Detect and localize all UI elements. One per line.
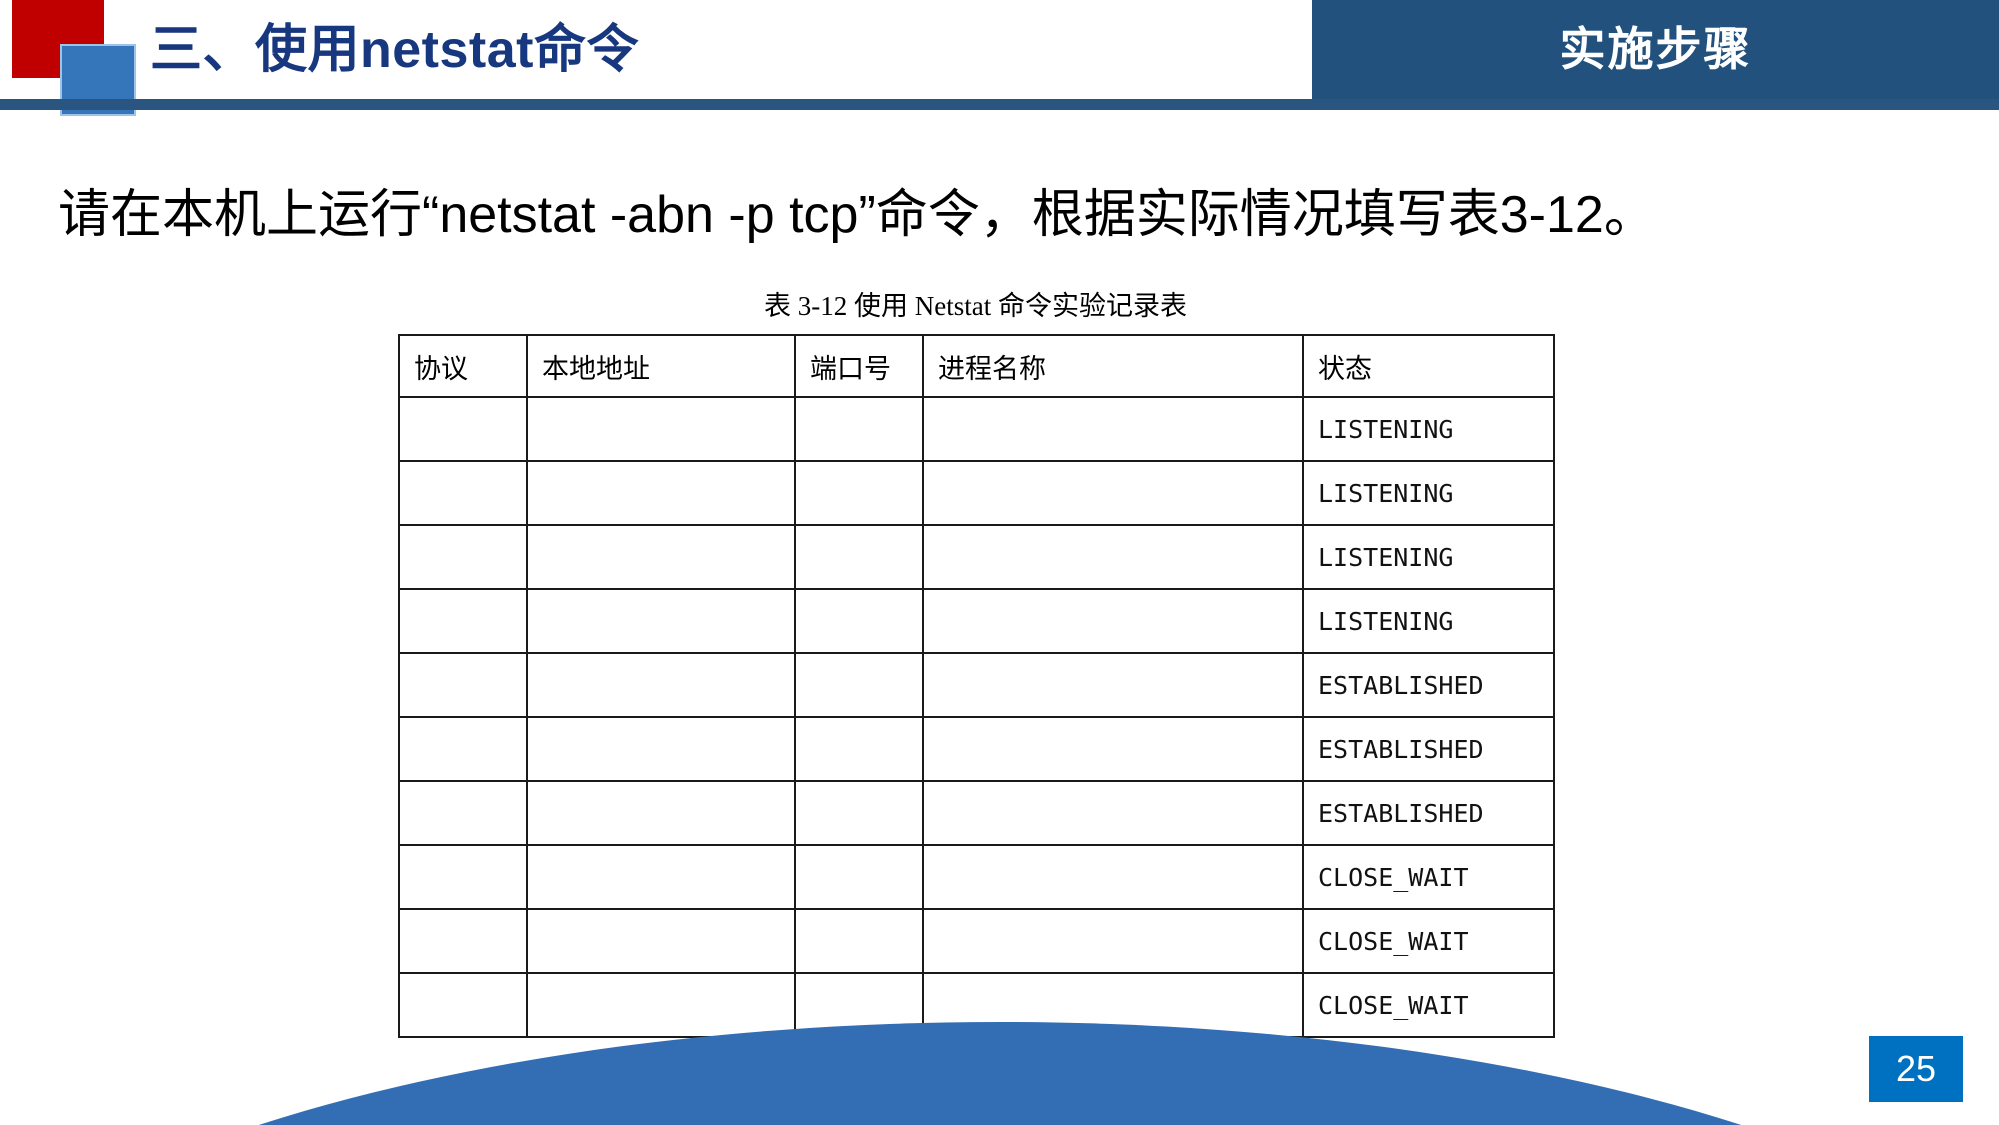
cell-state: LISTENING (1303, 397, 1554, 461)
slide-header: 三、使用netstat命令 实施步骤 (0, 0, 1999, 100)
table-row: ESTABLISHED (399, 781, 1554, 845)
cell-port[interactable] (795, 461, 923, 525)
cell-port[interactable] (795, 845, 923, 909)
table-row: LISTENING (399, 525, 1554, 589)
slide-root: 三、使用netstat命令 实施步骤 请在本机上运行“netstat -abn … (0, 0, 1999, 1125)
cell-process-name[interactable] (923, 589, 1303, 653)
cell-local-address[interactable] (527, 845, 795, 909)
cell-process-name[interactable] (923, 525, 1303, 589)
cell-port[interactable] (795, 909, 923, 973)
cell-state: ESTABLISHED (1303, 781, 1554, 845)
column-header-state: 状态 (1303, 335, 1554, 397)
column-header-local-address: 本地地址 (527, 335, 795, 397)
cell-protocol[interactable] (399, 461, 527, 525)
cell-port[interactable] (795, 525, 923, 589)
cell-protocol[interactable] (399, 909, 527, 973)
table-row: CLOSE_WAIT (399, 845, 1554, 909)
cell-process-name[interactable] (923, 845, 1303, 909)
table-row: ESTABLISHED (399, 653, 1554, 717)
table-header: 协议 本地地址 端口号 进程名称 状态 (399, 335, 1554, 397)
cell-protocol[interactable] (399, 589, 527, 653)
page-title: 三、使用netstat命令 (150, 14, 1270, 86)
instruction-text: 请在本机上运行“netstat -abn -p tcp”命令，根据实际情况填写表… (58, 183, 1938, 248)
cell-local-address[interactable] (527, 461, 795, 525)
table-row: LISTENING (399, 589, 1554, 653)
cell-local-address[interactable] (527, 781, 795, 845)
cell-state: LISTENING (1303, 525, 1554, 589)
cell-protocol[interactable] (399, 717, 527, 781)
cell-state: CLOSE_WAIT (1303, 845, 1554, 909)
netstat-record-table: 协议 本地地址 端口号 进程名称 状态 LISTENING LISTENING (398, 334, 1555, 1038)
cell-local-address[interactable] (527, 973, 795, 1037)
page-number: 25 (1869, 1036, 1963, 1102)
cell-protocol[interactable] (399, 781, 527, 845)
cell-protocol[interactable] (399, 653, 527, 717)
table-row: LISTENING (399, 461, 1554, 525)
cell-process-name[interactable] (923, 909, 1303, 973)
cell-state: CLOSE_WAIT (1303, 973, 1554, 1037)
cell-port[interactable] (795, 781, 923, 845)
cell-protocol[interactable] (399, 973, 527, 1037)
cell-port[interactable] (795, 397, 923, 461)
cell-protocol[interactable] (399, 525, 527, 589)
cell-process-name[interactable] (923, 461, 1303, 525)
table-header-row: 协议 本地地址 端口号 进程名称 状态 (399, 335, 1554, 397)
table-body: LISTENING LISTENING LISTENING (399, 397, 1554, 1037)
column-header-port: 端口号 (795, 335, 923, 397)
cell-local-address[interactable] (527, 525, 795, 589)
cell-state: ESTABLISHED (1303, 717, 1554, 781)
cell-state: ESTABLISHED (1303, 653, 1554, 717)
cell-local-address[interactable] (527, 717, 795, 781)
table-row: ESTABLISHED (399, 717, 1554, 781)
cell-protocol[interactable] (399, 397, 527, 461)
cell-port[interactable] (795, 717, 923, 781)
cell-process-name[interactable] (923, 781, 1303, 845)
table-row: LISTENING (399, 397, 1554, 461)
cell-local-address[interactable] (527, 909, 795, 973)
cell-local-address[interactable] (527, 589, 795, 653)
column-header-protocol: 协议 (399, 335, 527, 397)
cell-state: LISTENING (1303, 589, 1554, 653)
cell-local-address[interactable] (527, 397, 795, 461)
header-divider-rule (0, 99, 1999, 110)
column-header-process-name: 进程名称 (923, 335, 1303, 397)
table-row: CLOSE_WAIT (399, 909, 1554, 973)
table-caption: 表 3-12 使用 Netstat 命令实验记录表 (398, 284, 1553, 323)
section-label: 实施步骤 (1312, 0, 1999, 99)
cell-process-name[interactable] (923, 717, 1303, 781)
cell-state: CLOSE_WAIT (1303, 909, 1554, 973)
footer-arc-decoration (0, 1022, 1999, 1125)
cell-state: LISTENING (1303, 461, 1554, 525)
cell-process-name[interactable] (923, 653, 1303, 717)
cell-port[interactable] (795, 653, 923, 717)
cell-process-name[interactable] (923, 397, 1303, 461)
cell-protocol[interactable] (399, 845, 527, 909)
cell-local-address[interactable] (527, 653, 795, 717)
cell-port[interactable] (795, 589, 923, 653)
